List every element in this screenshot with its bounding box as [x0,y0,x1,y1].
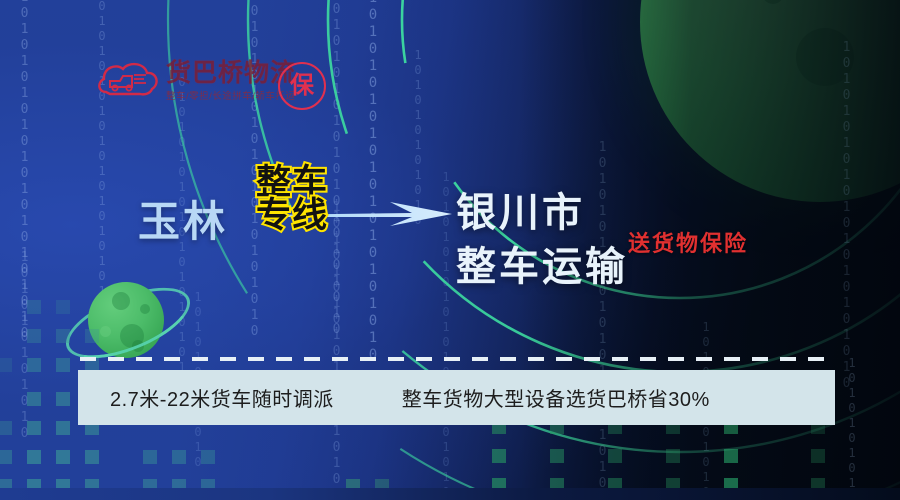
pixel-cell [0,421,12,435]
pixel-cell [27,329,41,343]
pixel-cell [0,300,12,314]
pixel-cell [317,450,331,464]
pixel-cell [143,450,157,464]
pixel-cell [56,450,70,464]
pixel-cell [579,449,593,463]
pixel-cell [521,449,535,463]
pixel-cell [404,450,418,464]
pixel-cell [114,329,128,343]
pixel-cell [0,358,12,372]
pixel-cell [433,450,447,464]
bottom-bar-right-text: 整车货物大型设备选货巴桥省30% [402,383,710,412]
pixel-cell [114,300,128,314]
truck-cloud-icon [96,58,160,104]
bottom-strip [0,488,900,500]
pixel-cell [550,449,564,463]
pixel-cell [27,421,41,435]
poster-canvas: 1010101010101010101010 101010101010 1010… [0,0,900,500]
pixel-cell [56,358,70,372]
pixel-cell [172,450,186,464]
insurance-badge[interactable]: 保 [278,62,326,110]
pixel-cell [56,300,70,314]
pixel-cell [27,392,41,406]
insurance-note: 送货物保险 [628,226,748,258]
pixel-cell [0,329,12,343]
pixel-cell [782,449,796,463]
pixel-cell [811,449,825,463]
pixel-cell [840,420,854,434]
pixel-cell [201,450,215,464]
bottom-info-bar: 2.7米-22米货车随时调派 整车货物大型设备选货巴桥省30% [78,370,835,425]
pixel-cell [608,449,622,463]
brand-text: 货巴桥物流 整车/零担/长途拼车/轿车托运 [166,60,296,102]
pixel-cell [259,450,273,464]
pixel-cell [840,449,854,463]
pixel-cell [143,329,157,343]
brand-title: 货巴桥物流 [166,60,296,86]
pixel-cell [462,450,476,464]
route-line-1: 整车 [256,166,328,199]
route-line-2: 专线 [256,199,328,232]
pixel-cell [56,421,70,435]
pixel-cell [0,392,12,406]
brand-logo[interactable]: 货巴桥物流 整车/零担/长途拼车/轿车托运 [96,58,296,104]
pixel-cell [85,329,99,343]
pixel-cell [288,450,302,464]
binary-column: 1010101010101010101010 [18,0,31,250]
destination-city: 银川市 [456,186,628,240]
pixel-cell [143,300,157,314]
origin-city: 玉林 [138,188,228,249]
pixel-cell [56,329,70,343]
pixel-cell [724,449,738,463]
pixel-cell [753,449,767,463]
pixel-cell [85,450,99,464]
pixel-cell [27,450,41,464]
pixel-cell [666,449,680,463]
pixel-cell [375,450,389,464]
brand-subtitle: 整车/零担/长途拼车/轿车托运 [166,88,296,102]
dashed-divider [80,357,836,361]
route-type-badge: 整车 专线 [256,166,328,233]
pixel-cell [27,358,41,372]
pixel-cell [695,449,709,463]
destination-block: 银川市 整车运输 [456,186,628,294]
insurance-badge-label: 保 [290,74,314,98]
binary-column: 1010101010101010101010 [840,40,853,340]
pixel-cell [230,450,244,464]
pixel-cell [869,449,883,463]
pixel-cell [0,450,12,464]
pixel-cell [869,420,883,434]
pixel-cell [114,450,128,464]
pixel-cell [56,392,70,406]
pixel-cell [85,300,99,314]
pixel-cell [346,450,360,464]
pixel-cell [637,449,651,463]
bottom-bar-left-text: 2.7米-22米货车随时调派 [110,383,334,412]
destination-service: 整车运输 [456,240,628,294]
pixel-cell [27,300,41,314]
pixel-cell [492,449,506,463]
